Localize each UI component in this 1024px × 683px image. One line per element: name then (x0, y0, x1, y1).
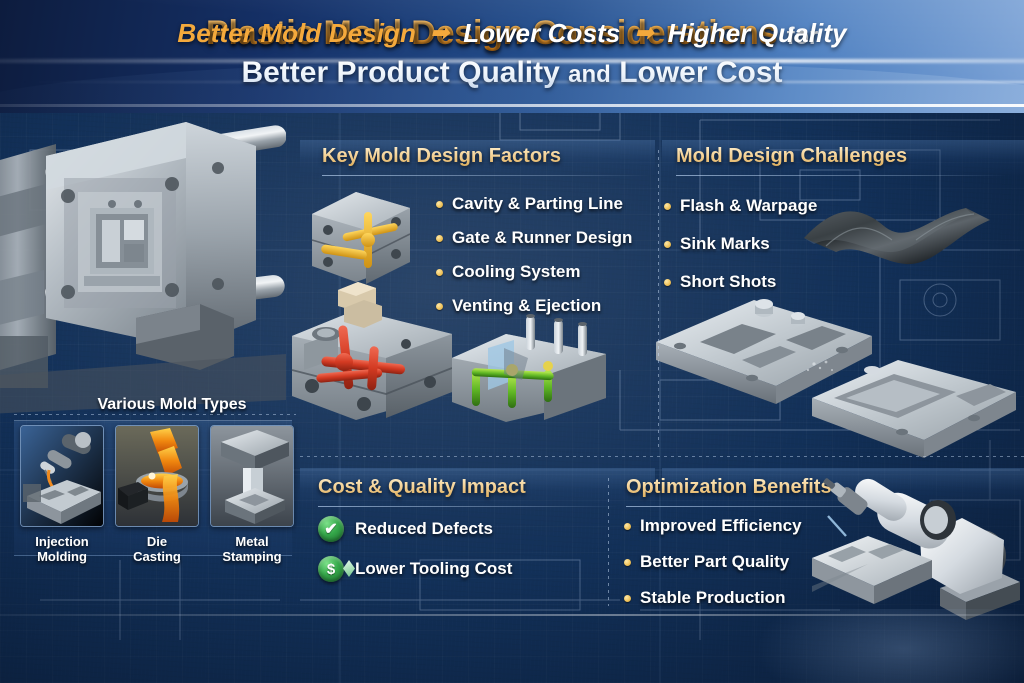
bullet-label: Improved Efficiency (640, 516, 802, 536)
bullet-dot-icon (624, 559, 631, 566)
gem-icon (343, 560, 355, 577)
challenges-heading: Mold Design Challenges (676, 145, 1006, 168)
bullet-dot-icon (436, 269, 443, 276)
cube-mold-illustration (300, 178, 430, 313)
list-item: $ Lower Tooling Cost (318, 556, 618, 582)
mold-type-card-die-casting[interactable] (115, 425, 199, 527)
caption-line-2: Casting (133, 549, 181, 564)
green-ejector-mold-illustration (448, 314, 610, 426)
stamping-press-die-photo (211, 426, 294, 527)
bullet-dot-icon (664, 279, 671, 286)
bullet-label: Gate & Runner Design (452, 228, 632, 248)
cost-quality-section: Cost & Quality Impact (318, 476, 618, 507)
caption-line-1: Metal (235, 534, 268, 549)
mold-type-caption-injection: Injection Molding (16, 534, 108, 565)
caption-line-1: Die (147, 534, 167, 549)
key-factors-section: Key Mold Design Factors (322, 145, 652, 176)
defect-plate-2-illustration (806, 352, 1022, 468)
tagline-part-1: Better Mold Design (177, 18, 416, 48)
arrow-right-icon-1: ➡ (423, 20, 456, 45)
mold-type-card-injection[interactable] (20, 425, 104, 527)
subtitle-a: Better Product Quality (241, 56, 559, 89)
bullet-label: Venting & Ejection (452, 296, 601, 316)
molten-metal-pour-photo (116, 426, 199, 527)
mold-types-heading: Various Mold Types (82, 396, 262, 415)
green-dollar-icon: $ (318, 556, 344, 582)
subtitle-b: Lower Cost (619, 56, 782, 89)
bullet-label: Cavity & Parting Line (452, 194, 623, 214)
bullet-dot-icon (624, 595, 631, 602)
green-check-icon: ✔ (318, 516, 344, 542)
mold-type-caption-metal-stamping: Metal Stamping (206, 534, 298, 565)
challenges-section: Mold Design Challenges (676, 145, 1006, 176)
arrow-right-icon-2: ➡ (628, 20, 661, 45)
key-factors-underline (322, 175, 652, 176)
robot-arm-illustration (812, 452, 1024, 624)
bullet-dot-icon (624, 523, 631, 530)
cost-quality-item-list: ✔ Reduced Defects $ Lower Tooling Cost (318, 516, 618, 582)
warped-part-illustration (796, 186, 996, 284)
impact-label: Reduced Defects (355, 519, 493, 539)
bullet-dot-icon (664, 241, 671, 248)
mold-type-caption-die-casting: Die Casting (111, 534, 203, 565)
mold-type-card-metal-stamping[interactable] (210, 425, 294, 527)
bullet-dot-icon (664, 203, 671, 210)
cost-quality-heading: Cost & Quality Impact (318, 476, 618, 499)
bullet-label: Stable Production (640, 588, 785, 608)
bullet-label: Cooling System (452, 262, 580, 282)
list-item: Gate & Runner Design (436, 228, 666, 248)
bullet-label: Better Part Quality (640, 552, 789, 572)
key-factors-heading: Key Mold Design Factors (322, 145, 652, 168)
mold-types-divider (14, 414, 296, 415)
footer-glow (744, 609, 1024, 683)
bullet-dot-icon (436, 201, 443, 208)
tagline-part-2: Lower Costs (463, 18, 620, 48)
bullet-dot-icon (436, 235, 443, 242)
list-item: ✔ Reduced Defects (318, 516, 618, 542)
key-factors-bullet-list: Cavity & Parting Line Gate & Runner Desi… (436, 190, 666, 316)
list-item: Cavity & Parting Line (436, 194, 666, 214)
subtitle-and: and (568, 61, 611, 88)
bullet-label: Short Shots (680, 272, 776, 292)
list-item: Cooling System (436, 262, 666, 282)
caption-line-2: Stamping (222, 549, 281, 564)
caption-line-1: Injection (35, 534, 88, 549)
list-item: Venting & Ejection (436, 296, 666, 316)
column-divider-bottom (608, 478, 609, 606)
caption-line-2: Molding (37, 549, 87, 564)
main-machine-illustration (0, 104, 286, 414)
column-divider-top (658, 150, 659, 450)
footer-tagline: Better Mold Design ➡ Lower Costs ➡ Highe… (0, 18, 1024, 49)
red-runner-mold-illustration (286, 300, 458, 428)
footer-banner (0, 609, 1024, 683)
challenges-underline (676, 175, 1006, 176)
cost-quality-underline (318, 506, 618, 507)
bullet-label: Sink Marks (680, 234, 770, 254)
impact-label: Lower Tooling Cost (355, 559, 512, 579)
infographic-poster: Plastic Mold Design Considerations for B… (0, 0, 1024, 683)
row-divider (300, 456, 1024, 457)
robot-arm-injection-mold-photo (21, 426, 104, 527)
tagline-part-3: Higher Quality (668, 18, 847, 48)
